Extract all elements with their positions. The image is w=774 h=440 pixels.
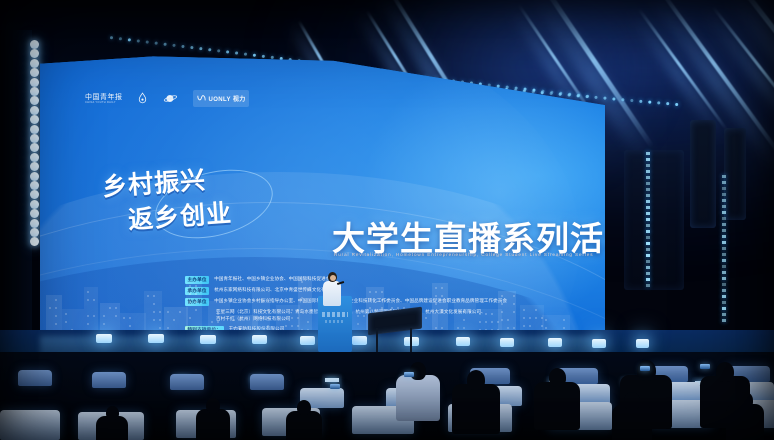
led-dot — [30, 172, 39, 181]
led-dot — [30, 219, 39, 228]
flame-mark-logo — [136, 92, 149, 105]
led-pixel — [722, 253, 726, 256]
led-pixel — [646, 182, 650, 185]
led-dot — [30, 143, 39, 152]
presenter-at-podium — [322, 272, 342, 306]
led-pixel — [722, 241, 726, 244]
uonly-wordmark: UONLY 视力 — [209, 94, 246, 103]
led-dot — [30, 96, 39, 105]
led-dot — [30, 49, 39, 58]
led-pixel — [646, 200, 650, 203]
teleprompter-leg-left — [376, 328, 378, 352]
audience-device-glint — [640, 366, 650, 371]
audience-chair — [92, 372, 126, 388]
led-dot — [30, 125, 39, 134]
stage-uplight — [636, 339, 649, 348]
left-led-dot-strip — [30, 40, 40, 245]
led-dot — [30, 237, 39, 246]
presenter-face — [330, 275, 336, 281]
teleprompter-leg-right — [410, 328, 412, 352]
stage-uplight — [96, 334, 112, 343]
podium-sublabel — [325, 320, 345, 323]
led-dot — [30, 59, 39, 68]
led-dot — [30, 228, 39, 237]
led-pixel — [646, 176, 650, 179]
led-pixel — [722, 277, 726, 280]
audience-member-head — [624, 392, 640, 410]
audience-member-head — [549, 368, 566, 387]
led-pixel — [646, 206, 650, 209]
stage-uplight — [148, 334, 164, 343]
kicker-line-2: 返乡创业 — [127, 193, 233, 236]
led-dot — [30, 40, 39, 49]
globe-mark-logo — [162, 92, 180, 105]
stage-uplight — [300, 336, 315, 345]
led-pixel — [722, 187, 726, 190]
led-dot — [30, 209, 39, 218]
led-pixel — [722, 307, 726, 310]
left-wall — [0, 30, 32, 360]
led-dot — [30, 115, 39, 124]
led-pixel — [722, 193, 726, 196]
audience-member-body — [534, 382, 580, 430]
led-pixel — [722, 283, 726, 286]
event-title-english: Rural Revitalization, Hometown Entrepren… — [334, 252, 593, 257]
led-pixel — [646, 158, 650, 161]
led-pixel — [722, 295, 726, 298]
audience-device-glint — [330, 384, 340, 389]
line-array-speaker-right — [724, 128, 746, 220]
fixture-lamp — [325, 378, 339, 382]
audience-device-glint — [700, 364, 710, 369]
led-pixel — [646, 194, 650, 197]
conference-stage-photo: 中国青年报 CHINA YOUTH DAILY — [0, 0, 774, 440]
led-pixel — [646, 266, 650, 269]
stage-uplight — [200, 335, 216, 344]
vertical-led-column-1 — [646, 152, 650, 292]
led-pixel — [646, 254, 650, 257]
led-dot — [30, 190, 39, 199]
uonly-mark-icon — [196, 92, 207, 105]
led-pixel — [646, 242, 650, 245]
stage-scaffolding — [624, 150, 684, 290]
audience-member-body — [286, 411, 322, 440]
audience-chair — [170, 374, 204, 390]
audience-device-glint — [404, 372, 414, 377]
china-youth-daily-logo: 中国青年报 CHINA YOUTH DAILY — [85, 94, 123, 104]
audience-member-body — [196, 409, 230, 440]
led-pixel — [722, 319, 726, 322]
led-pixel — [646, 236, 650, 239]
led-pixel — [646, 272, 650, 275]
led-pixel — [722, 199, 726, 202]
led-dot — [30, 68, 39, 77]
led-pixel — [722, 229, 726, 232]
led-pixel — [646, 212, 650, 215]
audience-member-head — [106, 406, 119, 420]
led-pixel — [722, 235, 726, 238]
led-pixel — [722, 301, 726, 304]
led-pixel — [646, 188, 650, 191]
audience-member-body — [396, 375, 440, 421]
logo-label-en: CHINA YOUTH DAILY — [85, 101, 123, 104]
audience-member-head — [738, 392, 753, 409]
uonly-logo: UONLY 视力 — [193, 90, 249, 107]
led-pixel — [722, 175, 726, 178]
audience-member-head — [467, 370, 485, 390]
vertical-led-column-2 — [722, 175, 726, 325]
line-array-speaker-left — [690, 120, 716, 228]
led-pixel — [722, 205, 726, 208]
led-pixel — [722, 223, 726, 226]
led-pixel — [722, 211, 726, 214]
flame-icon — [136, 92, 149, 105]
audience-member-body — [612, 405, 652, 440]
led-dot — [30, 134, 39, 143]
teleprompter-screen — [368, 310, 420, 352]
led-pixel — [646, 170, 650, 173]
audience-member-body — [452, 384, 500, 434]
led-pixel — [646, 230, 650, 233]
stage-uplight — [592, 339, 606, 348]
led-pixel — [722, 247, 726, 250]
led-dot — [30, 181, 39, 190]
led-dot — [30, 78, 39, 87]
presenter-body — [323, 281, 341, 306]
led-dot — [30, 162, 39, 171]
led-pixel — [646, 260, 650, 263]
audience-member-head — [297, 400, 311, 415]
stage-uplight — [252, 335, 267, 344]
led-pixel — [722, 289, 726, 292]
audience-chair — [0, 410, 60, 440]
led-pixel — [646, 218, 650, 221]
led-pixel — [722, 259, 726, 262]
led-pixel — [646, 164, 650, 167]
audience-chair — [18, 370, 52, 386]
led-pixel — [646, 224, 650, 227]
led-dot — [30, 87, 39, 96]
audience-member-head — [206, 398, 220, 413]
audience-member-body — [726, 404, 764, 440]
audience-member-head — [716, 362, 734, 382]
led-pixel — [722, 313, 726, 316]
led-pixel — [646, 284, 650, 287]
led-dot — [30, 106, 39, 115]
led-pixel — [722, 181, 726, 184]
stage-uplight — [456, 337, 470, 346]
led-dot — [30, 153, 39, 162]
led-pixel — [722, 271, 726, 274]
stage-uplight — [352, 336, 367, 345]
led-pixel — [722, 265, 726, 268]
led-pixel — [646, 248, 650, 251]
logo-label-cn: 中国青年报 — [85, 94, 123, 101]
led-pixel — [646, 278, 650, 281]
globe-icon — [162, 92, 180, 105]
led-pixel — [722, 217, 726, 220]
stage-uplight — [500, 338, 514, 347]
led-pixel — [646, 152, 650, 155]
led-dot — [30, 200, 39, 209]
audience-chair — [250, 374, 284, 390]
podium-label — [322, 312, 348, 317]
stage-uplight — [548, 338, 562, 347]
sponsor-logo-row: 中国青年报 CHINA YOUTH DAILY — [85, 90, 249, 107]
